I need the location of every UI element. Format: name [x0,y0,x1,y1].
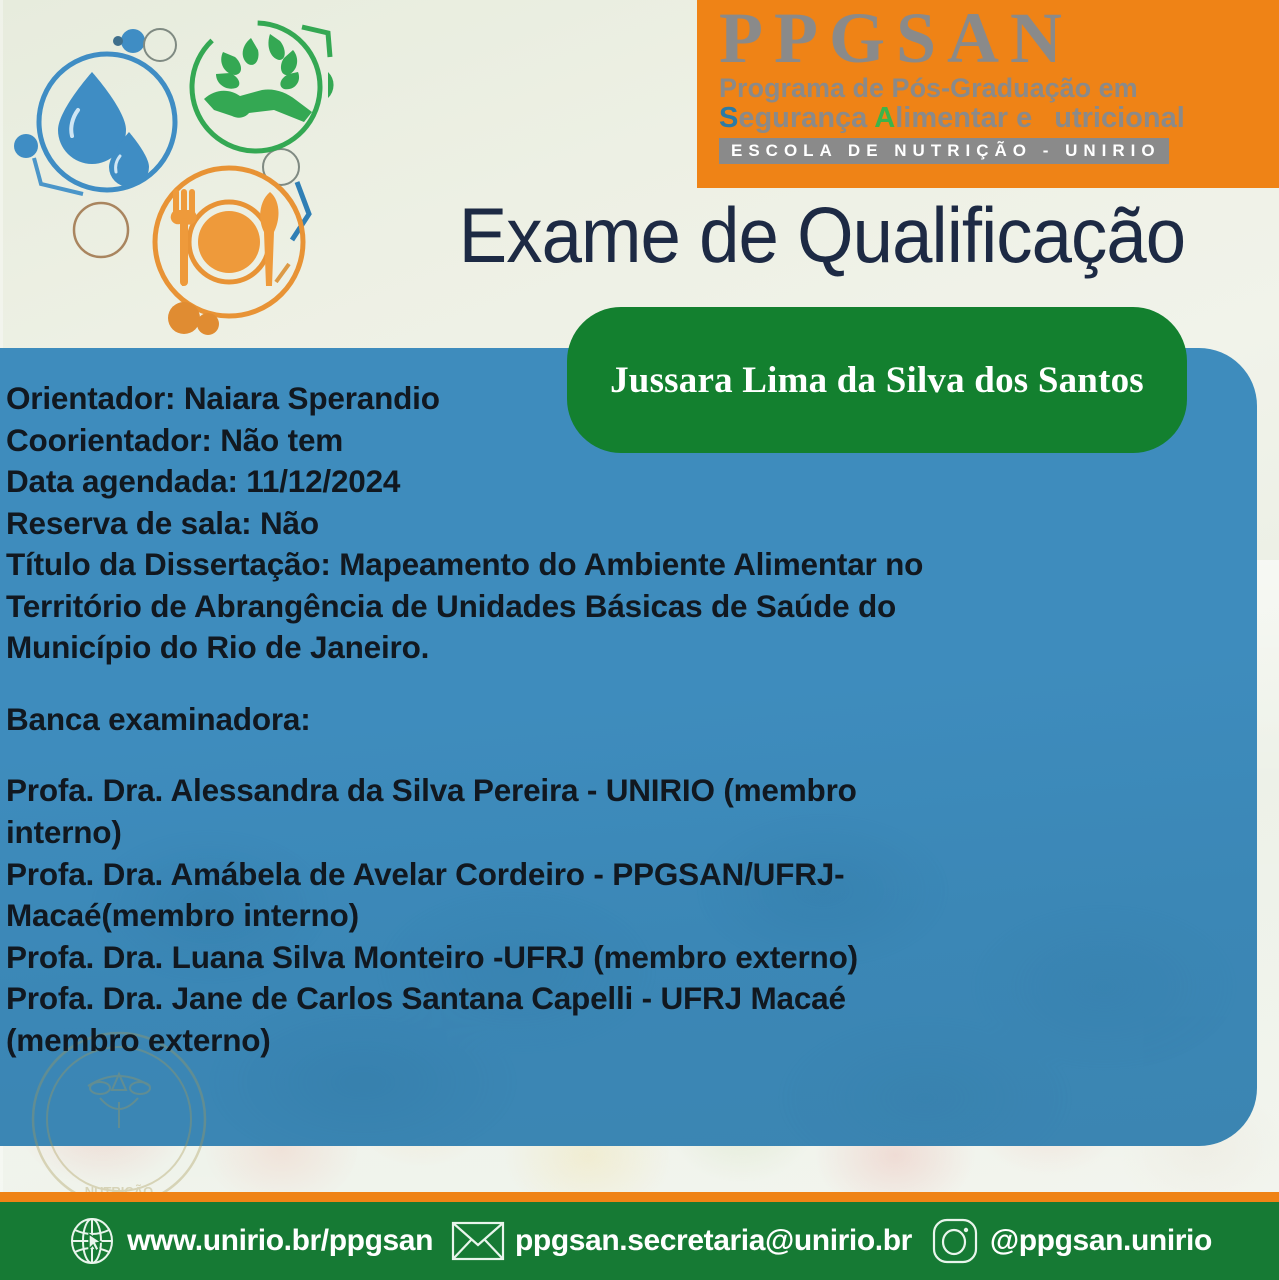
detail-dissertation-title-line-2: Território de Abrangência de Unidades Bá… [6,586,1046,628]
footer-instagram-text: @ppgsan.unirio [990,1224,1212,1258]
ppgsan-seguranca-text: egurança [738,102,874,134]
icon-cluster-svg [8,6,368,336]
sdg-icon-cluster [8,6,368,336]
ppgsan-school-bar: ESCOLA DE NUTRIÇÃO - UNIRIO [719,138,1169,164]
committee-line: Profa. Dra. Amábela de Avelar Cordeiro -… [6,854,1046,896]
footer-instagram-item[interactable]: @ppgsan.unirio [921,1216,1221,1266]
instagram-icon [930,1216,980,1266]
committee-line: Profa. Dra. Jane de Carlos Santana Capel… [6,978,1046,1020]
committee-line: Macaé(membro interno) [6,895,1046,937]
detail-dissertation-title-line-1: Título da Dissertação: Mapeamento do Amb… [6,544,1046,586]
footer-email-text: ppgsan.secretaria@unirio.br [515,1224,912,1258]
exam-details-block: Orientador: Naiara Sperandio Coorientado… [6,378,1046,1062]
spacer-line-2 [6,741,1046,771]
ppgsan-logo-content: PPGSAN Programa de Pós-Graduação em Segu… [697,0,1279,188]
detail-coadvisor: Coorientador: Não tem [6,420,1046,462]
committee-line: Profa. Dra. Luana Silva Monteiro -UFRJ (… [6,937,1046,979]
ppgsan-subtitle-line1: Programa de Pós-Graduação em [719,74,1139,102]
ppgsan-acronym: PPGSAN [719,4,1139,72]
committee-line: Profa. Dra. Alessandra da Silva Pereira … [6,770,1046,812]
footer-website-text: www.unirio.br/ppgsan [127,1224,433,1258]
envelope-icon [451,1219,505,1263]
footer-email-item[interactable]: ppgsan.secretaria@unirio.br [442,1219,921,1263]
committee-line: (membro externo) [6,1020,1046,1062]
committee-heading: Banca examinadora: [6,699,1046,741]
detail-scheduled-date: Data agendada: 11/12/2024 [6,461,1046,503]
footer-website-item[interactable]: www.unirio.br/ppgsan [58,1216,442,1266]
footer-orange-stripe [0,1192,1279,1202]
page-title: Exame de Qualificação [415,196,1230,274]
ppgsan-s-letter: S [719,102,738,134]
committee-line: interno) [6,812,1046,854]
detail-dissertation-title-line-3: Município do Rio de Janeiro. [6,627,1046,669]
footer-bar: www.unirio.br/ppgsan ppgsan.secretaria@u… [0,1202,1279,1280]
ppgsan-a-letter: A [874,102,895,134]
ppgsan-subtitle-line2: Segurança Alimentar eutricional [719,103,1139,133]
detail-advisor: Orientador: Naiara Sperandio [6,378,1046,420]
detail-room-reservation: Reserva de sala: Não [6,503,1046,545]
spacer-line-1 [6,669,1046,699]
ppgsan-alimentar-text: limentar e [895,102,1032,134]
globe-icon [67,1216,117,1266]
ppgsan-nutricional-text: utricional [1054,102,1185,134]
poster-root: PPGSAN Programa de Pós-Graduação em Segu… [0,0,1279,1280]
